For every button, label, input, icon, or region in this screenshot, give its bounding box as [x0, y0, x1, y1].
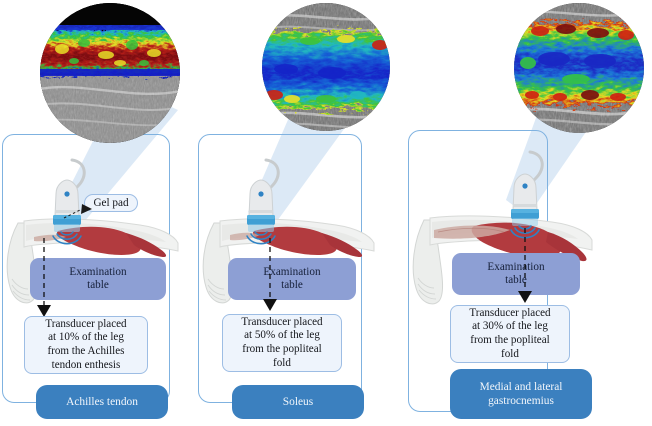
- note-line-2: at 30% of the leg: [469, 320, 550, 334]
- ultrasound-image-soleus: [262, 3, 390, 131]
- note-line-4: fold: [469, 348, 550, 362]
- exam-table-line1: Examination: [69, 266, 126, 279]
- note-line-1: Transducer placed: [45, 318, 126, 332]
- exam-table-line1: Examination: [263, 266, 320, 279]
- note-line-1: Transducer placed: [469, 307, 550, 321]
- gel-pad-label-achilles: Gel pad: [84, 194, 138, 212]
- placement-note-soleus: Transducer placed at 50% of the leg from…: [222, 314, 342, 372]
- result-box-gastrocnemius: Medial and lateral gastrocnemius: [450, 369, 592, 419]
- result-box-achilles: Achilles tendon: [36, 385, 168, 419]
- note-line-3: from the Achilles: [45, 345, 126, 359]
- result-line-2: gastrocnemius: [480, 394, 563, 408]
- exam-table-line1: Examination: [487, 261, 544, 274]
- figure-canvas: Gel pad Examination table Transducer pla…: [0, 0, 652, 426]
- ultrasound-transducer-soleus: [228, 158, 294, 246]
- note-line-2: at 10% of the leg: [45, 331, 126, 345]
- exam-table-line2: table: [487, 274, 544, 287]
- ultrasound-image-achilles: [40, 3, 180, 143]
- ultrasound-image-gastrocnemius: [514, 3, 644, 133]
- note-line-4: tendon enthesis: [45, 359, 126, 373]
- result-line-1: Soleus: [283, 395, 313, 409]
- note-line-4: fold: [241, 357, 322, 371]
- examination-table-gastrocnemius: Examination table: [452, 253, 580, 295]
- placement-note-gastrocnemius: Transducer placed at 30% of the leg from…: [450, 305, 570, 363]
- result-box-soleus: Soleus: [232, 385, 364, 419]
- result-line-1: Medial and lateral: [480, 380, 563, 394]
- ultrasound-transducer-gastrocnemius: [492, 150, 558, 242]
- gel-pad-text: Gel pad: [93, 197, 128, 209]
- examination-table-soleus: Examination table: [228, 258, 356, 300]
- note-line-1: Transducer placed: [241, 316, 322, 330]
- note-line-2: at 50% of the leg: [241, 329, 322, 343]
- exam-table-line2: table: [263, 279, 320, 292]
- note-line-3: from the popliteal: [469, 334, 550, 348]
- note-line-3: from the popliteal: [241, 343, 322, 357]
- placement-note-achilles: Transducer placed at 10% of the leg from…: [24, 316, 148, 374]
- exam-table-line2: table: [69, 279, 126, 292]
- examination-table-achilles: Examination table: [30, 258, 166, 300]
- result-line-1: Achilles tendon: [66, 395, 138, 409]
